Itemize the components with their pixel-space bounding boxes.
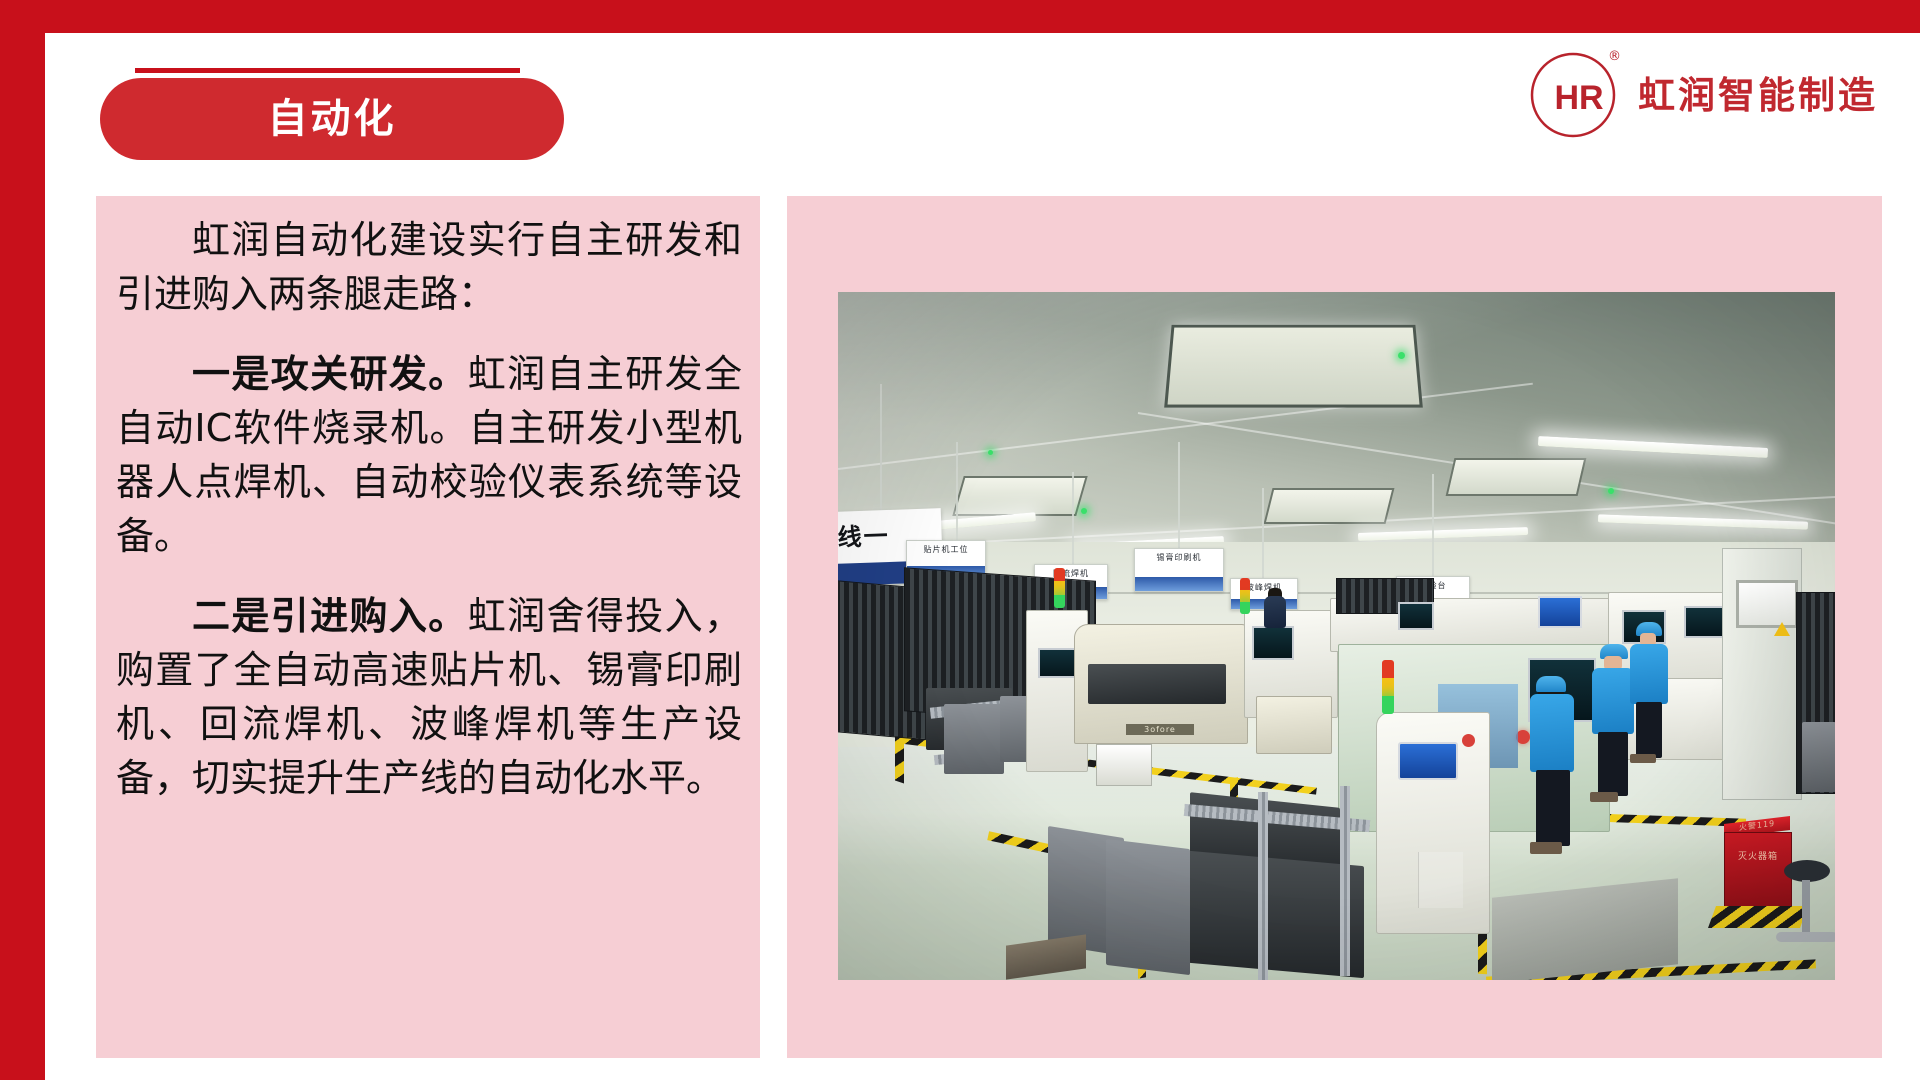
paragraph-1: 虹润自动化建设实行自主研发和引进购入两条腿走路：	[116, 214, 742, 322]
paragraph-3-lead: 二是引进购入。	[192, 594, 468, 638]
text-panel: 虹润自动化建设实行自主研发和引进购入两条腿走路： 一是攻关研发。虹润自主研发全自…	[96, 196, 760, 1058]
company-name: 虹润智能制造	[1638, 77, 1878, 114]
brand-logo: HR ® 虹润智能制造	[1530, 52, 1878, 138]
paragraph-2: 一是攻关研发。虹润自主研发全自动IC软件烧录机。自主研发小型机器人点焊机、自动校…	[116, 348, 742, 564]
body-copy: 虹润自动化建设实行自主研发和引进购入两条腿走路： 一是攻关研发。虹润自主研发全自…	[116, 214, 742, 806]
factory-photo: 线一 贴片机工位 回流焊机 锡膏印刷机 波峰焊机	[838, 292, 1835, 980]
image-panel: 线一 贴片机工位 回流焊机 锡膏印刷机 波峰焊机	[787, 196, 1882, 1058]
frame-left-bar	[0, 0, 45, 1080]
paragraph-3: 二是引进购入。虹润舍得投入，购置了全自动高速贴片机、锡膏印刷机、回流焊机、波峰焊…	[116, 590, 742, 806]
svg-text:HR: HR	[1554, 79, 1603, 117]
paragraph-1-text: 虹润自动化建设实行自主研发和引进购入两条腿走路：	[116, 218, 742, 316]
badge-underline-rule	[135, 68, 520, 73]
paragraph-2-lead: 一是攻关研发。	[192, 352, 468, 396]
registered-trademark-icon: ®	[1608, 50, 1621, 63]
page-title: 自动化	[268, 99, 397, 139]
slide-page: 自动化 HR ® 虹润智能制造 虹润自动化建设实行自主研发和引进购入两条腿走路：…	[0, 0, 1920, 1080]
hr-circle-icon: HR ®	[1530, 52, 1616, 138]
section-title-badge: 自动化	[100, 78, 564, 160]
frame-top-bar	[0, 0, 1920, 33]
photo-vignette	[838, 292, 1835, 980]
